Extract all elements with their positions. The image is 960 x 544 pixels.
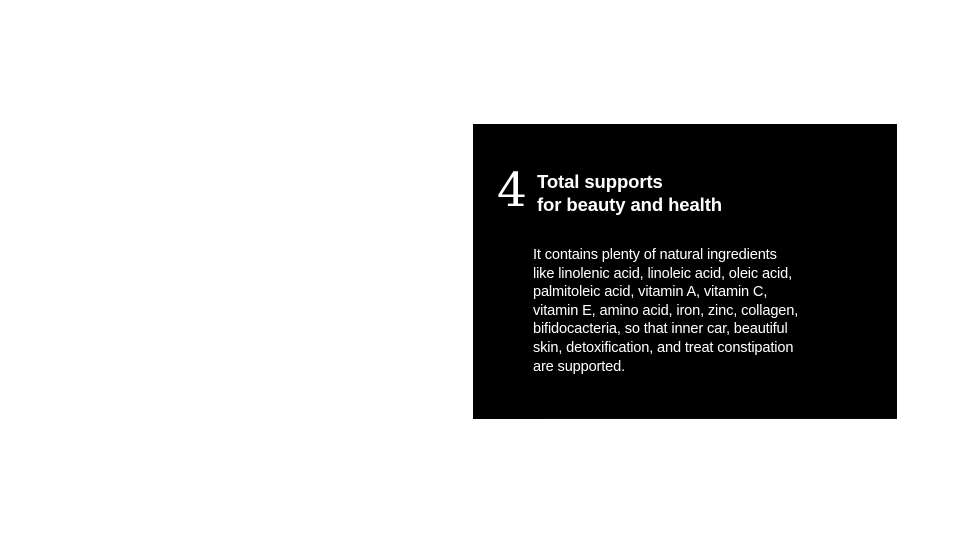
body-line: are supported. [533,358,881,377]
body-line: like linolenic acid, linoleic acid, olei… [533,265,881,284]
panel-bottom-divider [543,418,897,419]
feature-title-line-1: Total supports [537,171,722,194]
feature-body-copy: It contains plenty of natural ingredient… [533,246,881,376]
body-line: It contains plenty of natural ingredient… [533,246,881,265]
body-line: skin, detoxification, and treat constipa… [533,339,881,358]
body-line: vitamin E, amino acid, iron, zinc, colla… [533,302,881,321]
feature-title-line-2: for beauty and health [537,194,722,217]
feature-number: 4 [497,168,537,214]
slide-canvas: 4 Total supports for beauty and health I… [0,0,960,544]
feature-heading-block: 4 Total supports for beauty and health [497,170,722,216]
feature-title: Total supports for beauty and health [537,170,722,216]
feature-panel: 4 Total supports for beauty and health I… [473,124,897,419]
body-line: palmitoleic acid, vitamin A, vitamin C, [533,283,881,302]
body-line: bifidocacteria, so that inner car, beaut… [533,320,881,339]
